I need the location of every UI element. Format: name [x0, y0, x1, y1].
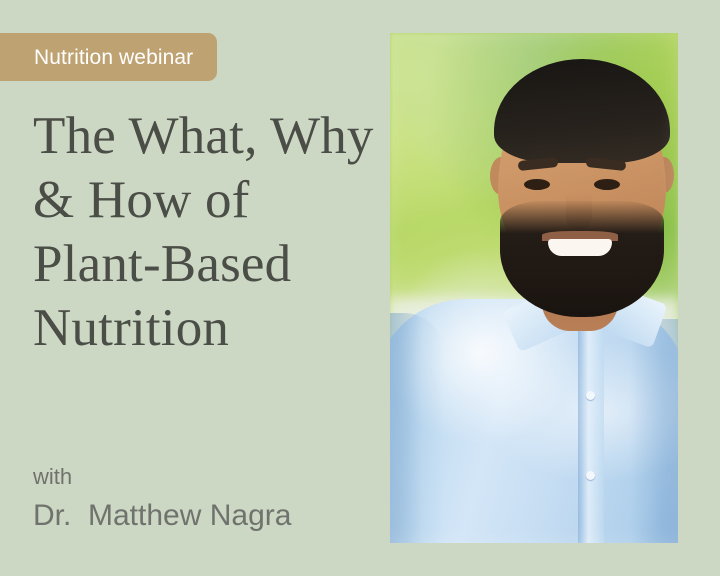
- eye-right: [594, 179, 620, 190]
- webinar-promo-canvas: Nutrition webinar The What, Why & How of…: [0, 0, 720, 576]
- presenter-name: Dr. Matthew Nagra: [33, 496, 291, 536]
- title-line-1: The What, Why: [33, 104, 383, 168]
- shirt-placket: [578, 301, 604, 543]
- webinar-title: The What, Why & How of Plant-Based Nutri…: [33, 104, 383, 360]
- title-line-4: Nutrition: [33, 296, 383, 360]
- smile-teeth: [548, 239, 612, 256]
- shirt-shadow-right: [630, 319, 678, 543]
- title-line-2: & How of: [33, 168, 383, 232]
- shirt-shadow-left: [390, 313, 444, 543]
- eye-left: [524, 179, 550, 190]
- speaker-photo: [390, 33, 678, 543]
- category-badge-label: Nutrition webinar: [34, 47, 193, 68]
- speaker-figure: [390, 33, 678, 543]
- category-badge: Nutrition webinar: [0, 33, 217, 81]
- shirt-button-1: [586, 391, 595, 400]
- presenter-with-label: with: [33, 462, 291, 492]
- shirt-button-2: [586, 471, 595, 480]
- presenter-block: with Dr. Matthew Nagra: [33, 462, 291, 536]
- hair: [494, 59, 670, 163]
- title-line-3: Plant-Based: [33, 232, 383, 296]
